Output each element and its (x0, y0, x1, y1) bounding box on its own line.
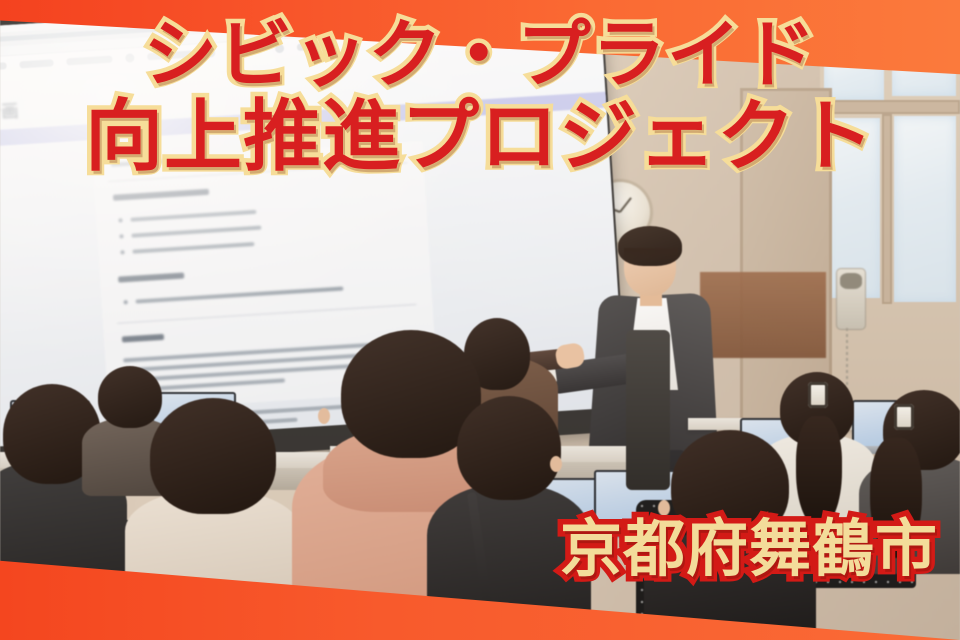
headline-line-2: 向上推進プロジェクト (0, 96, 960, 179)
city-label: 京都府舞鶴市 (560, 498, 938, 588)
standing-person-legs (626, 330, 670, 490)
presenter-hair (618, 226, 682, 266)
audience-person (128, 398, 298, 598)
headline-line-1: シビック・プライド (0, 16, 960, 94)
promotional-banner: の計画 (0, 0, 960, 640)
wall-phone-icon (836, 268, 866, 330)
headline-block: シビック・プライド 向上推進プロジェクト (0, 16, 960, 179)
